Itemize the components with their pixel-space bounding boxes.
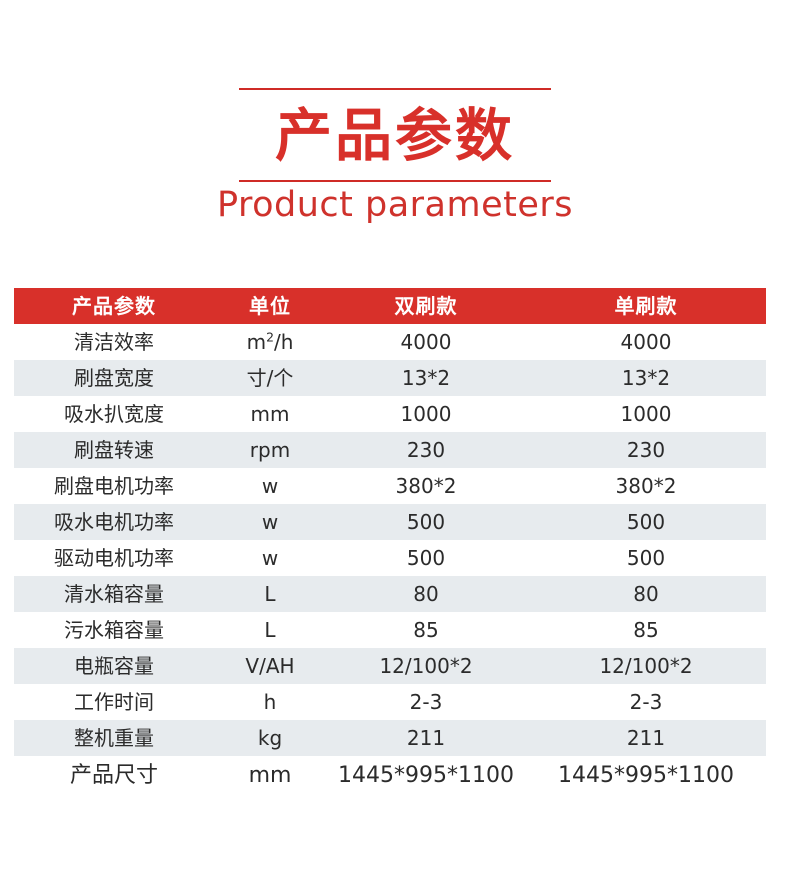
cell-single-brush-value: 80 [526,576,766,612]
cell-unit: mm [214,756,326,796]
cell-double-brush-value: 2-3 [326,684,526,720]
page-title-chinese: 产品参数 [0,94,790,178]
cell-double-brush-value: 500 [326,540,526,576]
column-header-unit: 单位 [214,288,326,324]
cell-parameter-name: 刷盘转速 [14,432,214,468]
cell-double-brush-value: 380*2 [326,468,526,504]
table-header-row: 产品参数 单位 双刷款 单刷款 [14,288,766,324]
cell-parameter-name: 污水箱容量 [14,612,214,648]
column-header-single-brush: 单刷款 [526,288,766,324]
cell-unit: L [214,576,326,612]
cell-parameter-name: 刷盘宽度 [14,360,214,396]
cell-unit: 寸/个 [214,360,326,396]
table-row: 整机重量kg211211 [14,720,766,756]
spec-table-body: 清洁效率m2/h40004000刷盘宽度寸/个13*213*2吸水扒宽度mm10… [14,324,766,796]
cell-unit: w [214,540,326,576]
title-block: 产品参数 Product parameters [0,88,790,229]
cell-parameter-name: 整机重量 [14,720,214,756]
table-row: 刷盘宽度寸/个13*213*2 [14,360,766,396]
cell-single-brush-value: 2-3 [526,684,766,720]
table-row: 刷盘转速rpm230230 [14,432,766,468]
cell-single-brush-value: 1445*995*1100 [526,756,766,796]
cell-double-brush-value: 230 [326,432,526,468]
cell-parameter-name: 工作时间 [14,684,214,720]
cell-parameter-name: 电瓶容量 [14,648,214,684]
cell-unit: w [214,504,326,540]
table-row: 产品尺寸mm1445*995*11001445*995*1100 [14,756,766,796]
table-row: 污水箱容量L8585 [14,612,766,648]
spec-table-head: 产品参数 单位 双刷款 单刷款 [14,288,766,324]
cell-single-brush-value: 500 [526,540,766,576]
cell-double-brush-value: 1000 [326,396,526,432]
cell-unit: w [214,468,326,504]
cell-single-brush-value: 380*2 [526,468,766,504]
cell-double-brush-value: 211 [326,720,526,756]
table-row: 工作时间h2-32-3 [14,684,766,720]
cell-double-brush-value: 85 [326,612,526,648]
cell-unit: mm [214,396,326,432]
cell-parameter-name: 产品尺寸 [14,756,214,796]
column-header-parameter: 产品参数 [14,288,214,324]
cell-single-brush-value: 1000 [526,396,766,432]
cell-parameter-name: 驱动电机功率 [14,540,214,576]
cell-parameter-name: 清水箱容量 [14,576,214,612]
column-header-double-brush: 双刷款 [326,288,526,324]
cell-double-brush-value: 500 [326,504,526,540]
product-parameters-page: 产品参数 Product parameters 产品参数 单位 双刷款 单刷款 … [0,0,790,873]
title-divider-top [239,88,551,90]
cell-double-brush-value: 12/100*2 [326,648,526,684]
cell-parameter-name: 吸水扒宽度 [14,396,214,432]
cell-single-brush-value: 500 [526,504,766,540]
cell-unit: V/AH [214,648,326,684]
cell-double-brush-value: 1445*995*1100 [326,756,526,796]
cell-unit: rpm [214,432,326,468]
cell-unit: h [214,684,326,720]
table-row: 驱动电机功率w500500 [14,540,766,576]
cell-single-brush-value: 12/100*2 [526,648,766,684]
cell-double-brush-value: 4000 [326,324,526,360]
page-title-english: Product parameters [0,182,790,229]
table-row: 吸水扒宽度mm10001000 [14,396,766,432]
table-row: 刷盘电机功率w380*2380*2 [14,468,766,504]
cell-unit: m2/h [214,324,326,360]
cell-single-brush-value: 211 [526,720,766,756]
cell-single-brush-value: 4000 [526,324,766,360]
table-row: 电瓶容量V/AH12/100*212/100*2 [14,648,766,684]
cell-parameter-name: 刷盘电机功率 [14,468,214,504]
cell-double-brush-value: 13*2 [326,360,526,396]
table-row: 清水箱容量L8080 [14,576,766,612]
cell-parameter-name: 吸水电机功率 [14,504,214,540]
spec-table-wrapper: 产品参数 单位 双刷款 单刷款 清洁效率m2/h40004000刷盘宽度寸/个1… [14,288,766,796]
cell-parameter-name: 清洁效率 [14,324,214,360]
cell-double-brush-value: 80 [326,576,526,612]
cell-single-brush-value: 13*2 [526,360,766,396]
spec-table: 产品参数 单位 双刷款 单刷款 清洁效率m2/h40004000刷盘宽度寸/个1… [14,288,766,796]
cell-single-brush-value: 85 [526,612,766,648]
cell-unit: L [214,612,326,648]
cell-unit: kg [214,720,326,756]
table-row: 清洁效率m2/h40004000 [14,324,766,360]
cell-single-brush-value: 230 [526,432,766,468]
table-row: 吸水电机功率w500500 [14,504,766,540]
